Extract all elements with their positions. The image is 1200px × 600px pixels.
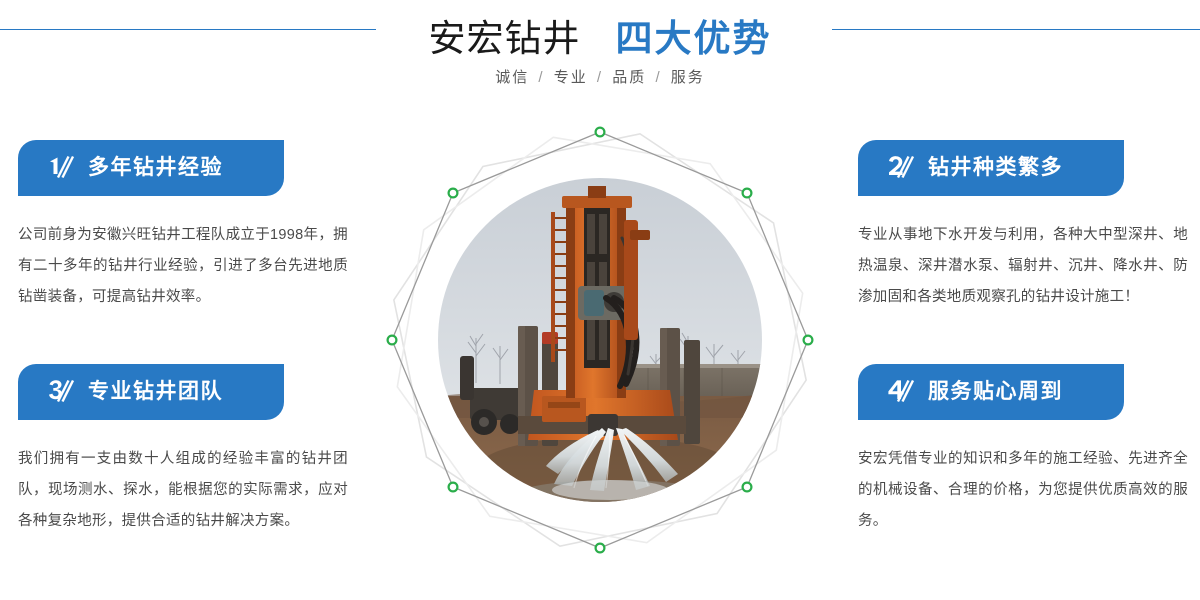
advantage-body-4: 安宏凭借专业的知识和多年的施工经验、先进齐全的机械设备、合理的价格，为您提供优质… — [858, 444, 1188, 537]
advantage-title-1: 多年钻井经验 — [88, 140, 223, 196]
subtitle-separator-2: / — [594, 69, 606, 86]
advantage-body-1: 公司前身为安徽兴旺钻井工程队成立于1998年，拥有二十多年的钻井行业经验，引进了… — [18, 220, 348, 313]
subtitle-item-1: 诚信 — [495, 69, 529, 86]
page-subtitle: 诚信 / 专业 / 品质 / 服务 — [0, 66, 1200, 87]
advantage-banner-3[interactable]: 专业钻井团队 — [18, 364, 284, 420]
octagon-node-sw — [449, 483, 458, 492]
advantage-banner-4[interactable]: 服务贴心周到 — [858, 364, 1124, 420]
subtitle-item-2: 专业 — [554, 69, 588, 86]
octagon-node-e — [804, 336, 813, 345]
page-title-secondary: 四大优势 — [615, 18, 771, 59]
advantage-banner-1[interactable]: 多年钻井经验 — [18, 140, 284, 196]
advantage-card-3: 专业钻井团队 我们拥有一支由数十人组成的经验丰富的钻井团队，现场测水、探水，能根… — [18, 364, 358, 537]
page-title: 安宏钻井 四大优势 — [0, 8, 1200, 62]
octagon-node-w — [388, 336, 397, 345]
advantage-card-1: 多年钻井经验 公司前身为安徽兴旺钻井工程队成立于1998年，拥有二十多年的钻井行… — [18, 140, 358, 313]
octagon-node-nw — [449, 189, 458, 198]
octagon-node-n — [596, 128, 605, 137]
octagon-node-se — [743, 483, 752, 492]
number-two-icon — [884, 151, 918, 185]
drilling-rig-illustration — [438, 178, 762, 502]
advantage-title-2: 钻井种类繁多 — [928, 140, 1063, 196]
advantage-card-4: 服务贴心周到 安宏凭借专业的知识和多年的施工经验、先进齐全的机械设备、合理的价格… — [858, 364, 1198, 537]
number-three-icon — [44, 375, 78, 409]
octagon-node-s — [596, 544, 605, 553]
center-graphic — [370, 110, 830, 570]
subtitle-separator-3: / — [652, 69, 664, 86]
advantage-card-2: 钻井种类繁多 专业从事地下水开发与利用，各种大中型深井、地热温泉、深井潜水泵、辐… — [858, 140, 1198, 313]
advantage-body-3: 我们拥有一支由数十人组成的经验丰富的钻井团队，现场测水、探水，能根据您的实际需求… — [18, 444, 348, 537]
advantage-body-2: 专业从事地下水开发与利用，各种大中型深井、地热温泉、深井潜水泵、辐射井、沉井、降… — [858, 220, 1188, 313]
advantage-banner-2[interactable]: 钻井种类繁多 — [858, 140, 1124, 196]
advantage-title-3: 专业钻井团队 — [88, 364, 223, 420]
number-one-icon — [44, 151, 78, 185]
subtitle-item-4: 服务 — [671, 69, 705, 86]
drilling-rig-photo — [438, 178, 762, 502]
advantage-title-4: 服务贴心周到 — [928, 364, 1063, 420]
page-title-primary: 安宏钻井 — [429, 18, 581, 59]
number-four-icon — [884, 375, 918, 409]
subtitle-separator-1: / — [535, 69, 547, 86]
subtitle-item-3: 品质 — [612, 69, 646, 86]
octagon-node-ne — [743, 189, 752, 198]
page-header: 安宏钻井 四大优势 诚信 / 专业 / 品质 / 服务 — [0, 0, 1200, 110]
four-advantages-page: 安宏钻井 四大优势 诚信 / 专业 / 品质 / 服务 — [0, 0, 1200, 600]
